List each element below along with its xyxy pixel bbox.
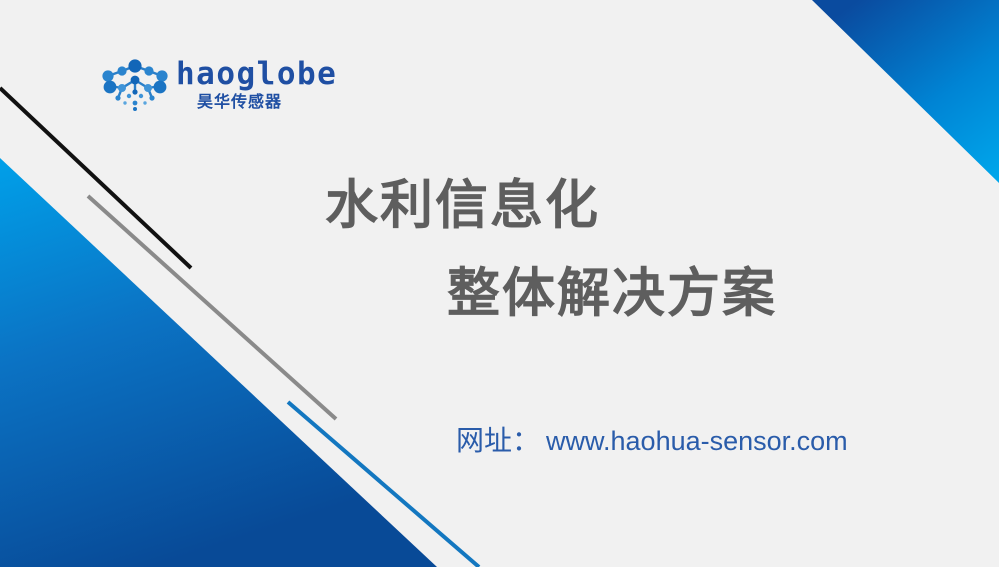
website-label: 网址： [456, 425, 540, 456]
logo-wordmark: haoglobe [176, 56, 337, 92]
haoglobe-network-dots-icon [96, 58, 174, 114]
website-line: 网址：www.haohua-sensor.com [456, 421, 848, 466]
website-url[interactable]: www.haohua-sensor.com [546, 426, 848, 456]
logo-subtext: 昊华传感器 [197, 93, 282, 113]
company-logo: haoglobe 昊华传感器 [96, 56, 326, 118]
presentation-title-slide: haoglobe 昊华传感器 水利信息化 整体解决方案 网址：www.haohu… [0, 0, 999, 567]
